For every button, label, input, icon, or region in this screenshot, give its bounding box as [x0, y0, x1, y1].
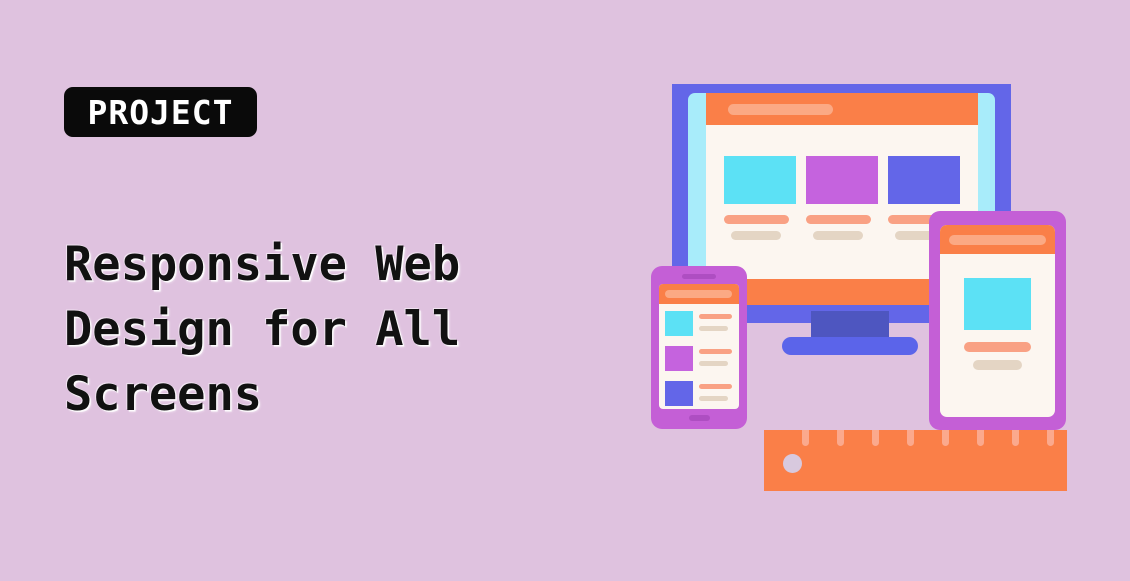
tablet-text-line [973, 360, 1022, 370]
poster-canvas: PROJECT Responsive Web Design for All Sc… [0, 0, 1130, 581]
phone-text-line [699, 361, 728, 366]
ruler [764, 430, 1067, 491]
ruler-tick [802, 430, 809, 446]
phone-thumb-cyan [665, 311, 693, 336]
tablet-screen [940, 225, 1055, 417]
tablet-device [929, 211, 1066, 430]
monitor-topbar-pill [728, 104, 833, 115]
phone-text-line [699, 326, 728, 331]
ruler-tick [977, 430, 984, 446]
responsive-devices-illustration [0, 0, 1130, 581]
phone-topbar [659, 284, 739, 304]
monitor-text-line [813, 231, 863, 240]
phone-thumb-blue [665, 381, 693, 406]
phone-home-indicator [689, 415, 710, 421]
phone-text-line [699, 314, 732, 319]
ruler-hole [783, 454, 802, 473]
monitor-card-cyan [724, 156, 796, 204]
ruler-tick [837, 430, 844, 446]
ruler-tick [872, 430, 879, 446]
tablet-topbar-pill [949, 235, 1046, 245]
monitor-text-line [731, 231, 781, 240]
phone-speaker-icon [682, 274, 716, 279]
phone-text-line [699, 349, 732, 354]
tablet-text-line [964, 342, 1031, 352]
monitor-stand-base [782, 337, 918, 355]
monitor-topbar [706, 93, 978, 125]
tablet-hero-image [964, 278, 1031, 330]
monitor-card-blue [888, 156, 960, 204]
mobile-phone [651, 266, 747, 429]
ruler-tick [1047, 430, 1054, 446]
monitor-text-line [806, 215, 871, 224]
monitor-card-orchid [806, 156, 878, 204]
phone-topbar-pill [665, 290, 732, 298]
phone-thumb-orchid [665, 346, 693, 371]
ruler-tick [942, 430, 949, 446]
phone-screen [659, 284, 739, 409]
phone-text-line [699, 384, 732, 389]
phone-text-line [699, 396, 728, 401]
monitor-text-line [724, 215, 789, 224]
ruler-tick [907, 430, 914, 446]
ruler-tick [1012, 430, 1019, 446]
tablet-topbar [940, 225, 1055, 254]
